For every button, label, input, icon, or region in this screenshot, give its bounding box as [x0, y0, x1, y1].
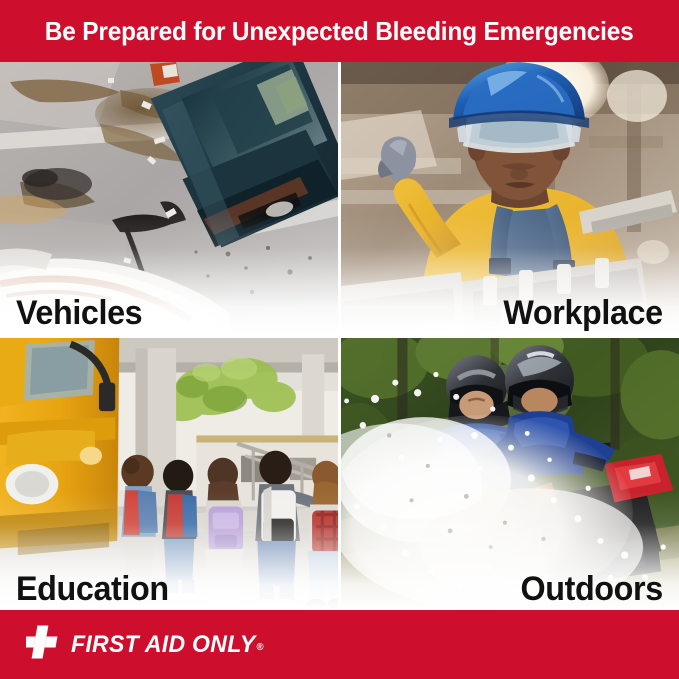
promotional-poster: Be Prepared for Unexpected Bleeding Emer… [0, 0, 679, 679]
first-aid-cross-icon [26, 625, 64, 665]
category-label-education: Education [16, 572, 169, 606]
category-grid: Vehicles [0, 62, 679, 610]
header-banner: Be Prepared for Unexpected Bleeding Emer… [0, 0, 679, 62]
category-cell-education[interactable]: Education [0, 338, 338, 610]
brand-name: FIRST AID ONLY® [71, 633, 264, 657]
category-label-vehicles: Vehicles [16, 296, 142, 330]
brand-logo: FIRST AID ONLY® [26, 625, 272, 665]
registered-trademark-icon: ® [256, 642, 263, 653]
category-label-workplace: Workplace [504, 296, 663, 330]
brand-name-text: FIRST AID ONLY [71, 631, 256, 658]
category-cell-outdoors[interactable]: Outdoors [341, 338, 679, 610]
category-cell-workplace[interactable]: Workplace [341, 62, 679, 334]
page-title: Be Prepared for Unexpected Bleeding Emer… [45, 18, 634, 44]
footer-banner: FIRST AID ONLY® [0, 610, 679, 679]
category-cell-vehicles[interactable]: Vehicles [0, 62, 338, 334]
category-label-outdoors: Outdoors [521, 572, 663, 606]
